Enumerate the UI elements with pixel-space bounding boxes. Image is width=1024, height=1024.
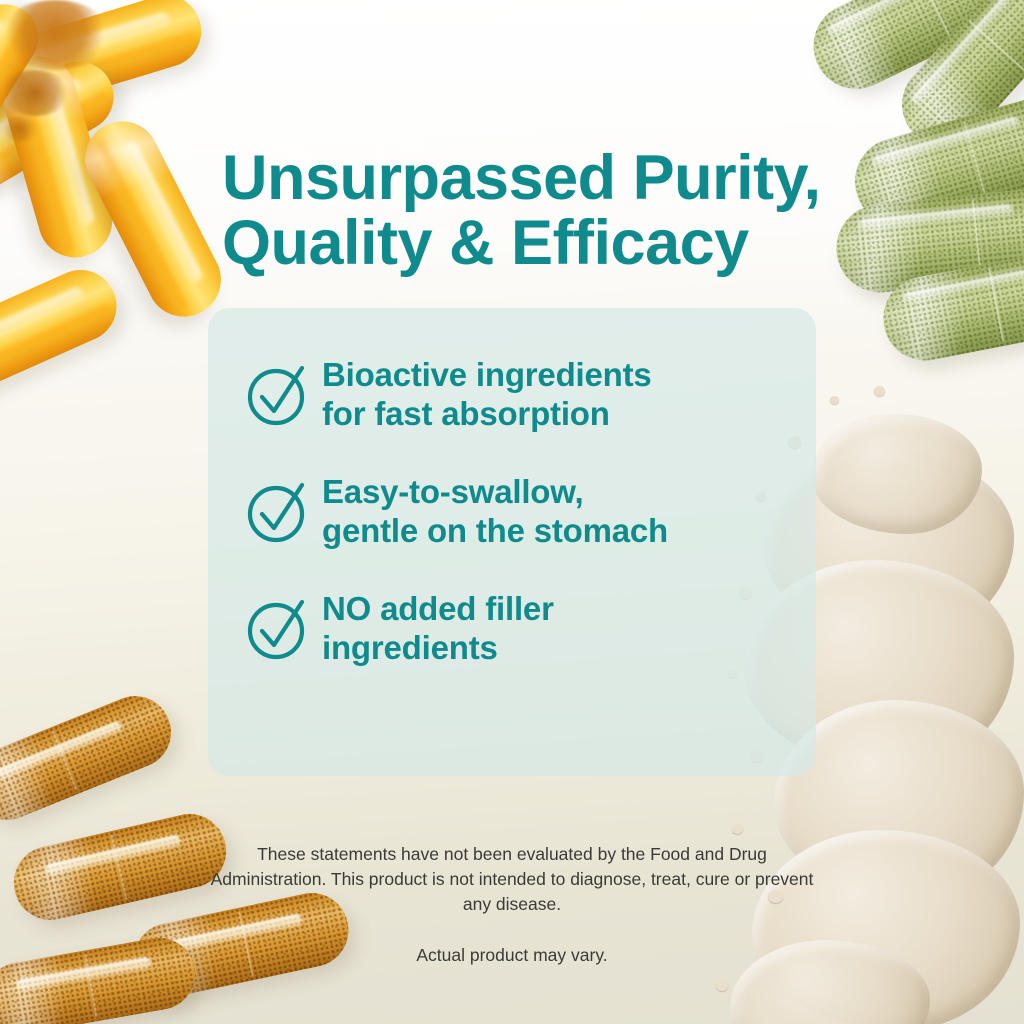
feature-line-2: for fast absorption	[322, 395, 610, 432]
powder-spill	[0, 116, 40, 142]
softgel-capsule	[0, 0, 51, 154]
turmeric-capsules-cluster	[0, 0, 110, 142]
turmeric-capsule	[6, 807, 233, 928]
green-capsule	[799, 0, 1024, 103]
feature-line-1: Bioactive ingredients	[322, 356, 652, 393]
softgel-capsule	[0, 48, 121, 266]
softgel-capsule	[72, 109, 233, 330]
green-capsule	[876, 240, 1024, 367]
softgel-capsule	[0, 0, 210, 114]
powder-spill	[0, 0, 110, 70]
feature-label: NO added filler ingredients	[322, 588, 554, 667]
feature-label: Bioactive ingredients for fast absorptio…	[322, 354, 652, 433]
headline-line-2: Quality & Efficacy	[222, 211, 842, 276]
turmeric-capsule	[0, 932, 201, 1024]
circle-check-icon	[244, 354, 322, 433]
feature-line-2: ingredients	[322, 629, 498, 666]
feature-line-1: Easy-to-swallow,	[322, 473, 583, 510]
circle-check-icon	[244, 588, 322, 667]
feature-label: Easy-to-swallow, gentle on the stomach	[322, 471, 668, 550]
disclaimer-spacer	[202, 917, 822, 943]
feature-list: Bioactive ingredients for fast absorptio…	[208, 308, 816, 668]
circle-check-icon	[244, 471, 322, 550]
page-title: Unsurpassed Purity, Quality & Efficacy	[222, 146, 842, 276]
headline-line-1: Unsurpassed Purity,	[222, 143, 821, 213]
green-capsule	[832, 183, 1024, 297]
softgel-capsule	[0, 49, 127, 206]
feature-item: Bioactive ingredients for fast absorptio…	[244, 354, 786, 433]
fda-disclaimer-text: These statements have not been evaluated…	[202, 842, 822, 917]
product-variance-text: Actual product may vary.	[202, 943, 822, 968]
turmeric-capsule	[0, 685, 182, 830]
green-capsule	[885, 0, 1024, 164]
feature-card: Bioactive ingredients for fast absorptio…	[208, 308, 816, 776]
softgel-capsule	[0, 258, 128, 405]
feature-line-2: gentle on the stomach	[322, 512, 668, 549]
feature-item: NO added filler ingredients	[244, 588, 786, 667]
product-infographic: Unsurpassed Purity, Quality & Efficacy B…	[0, 0, 1024, 1024]
disclaimer-block: These statements have not been evaluated…	[202, 842, 822, 967]
powder-spill	[0, 70, 70, 116]
feature-line-1: NO added filler	[322, 590, 554, 627]
green-capsule	[845, 84, 1024, 236]
feature-item: Easy-to-swallow, gentle on the stomach	[244, 471, 786, 550]
